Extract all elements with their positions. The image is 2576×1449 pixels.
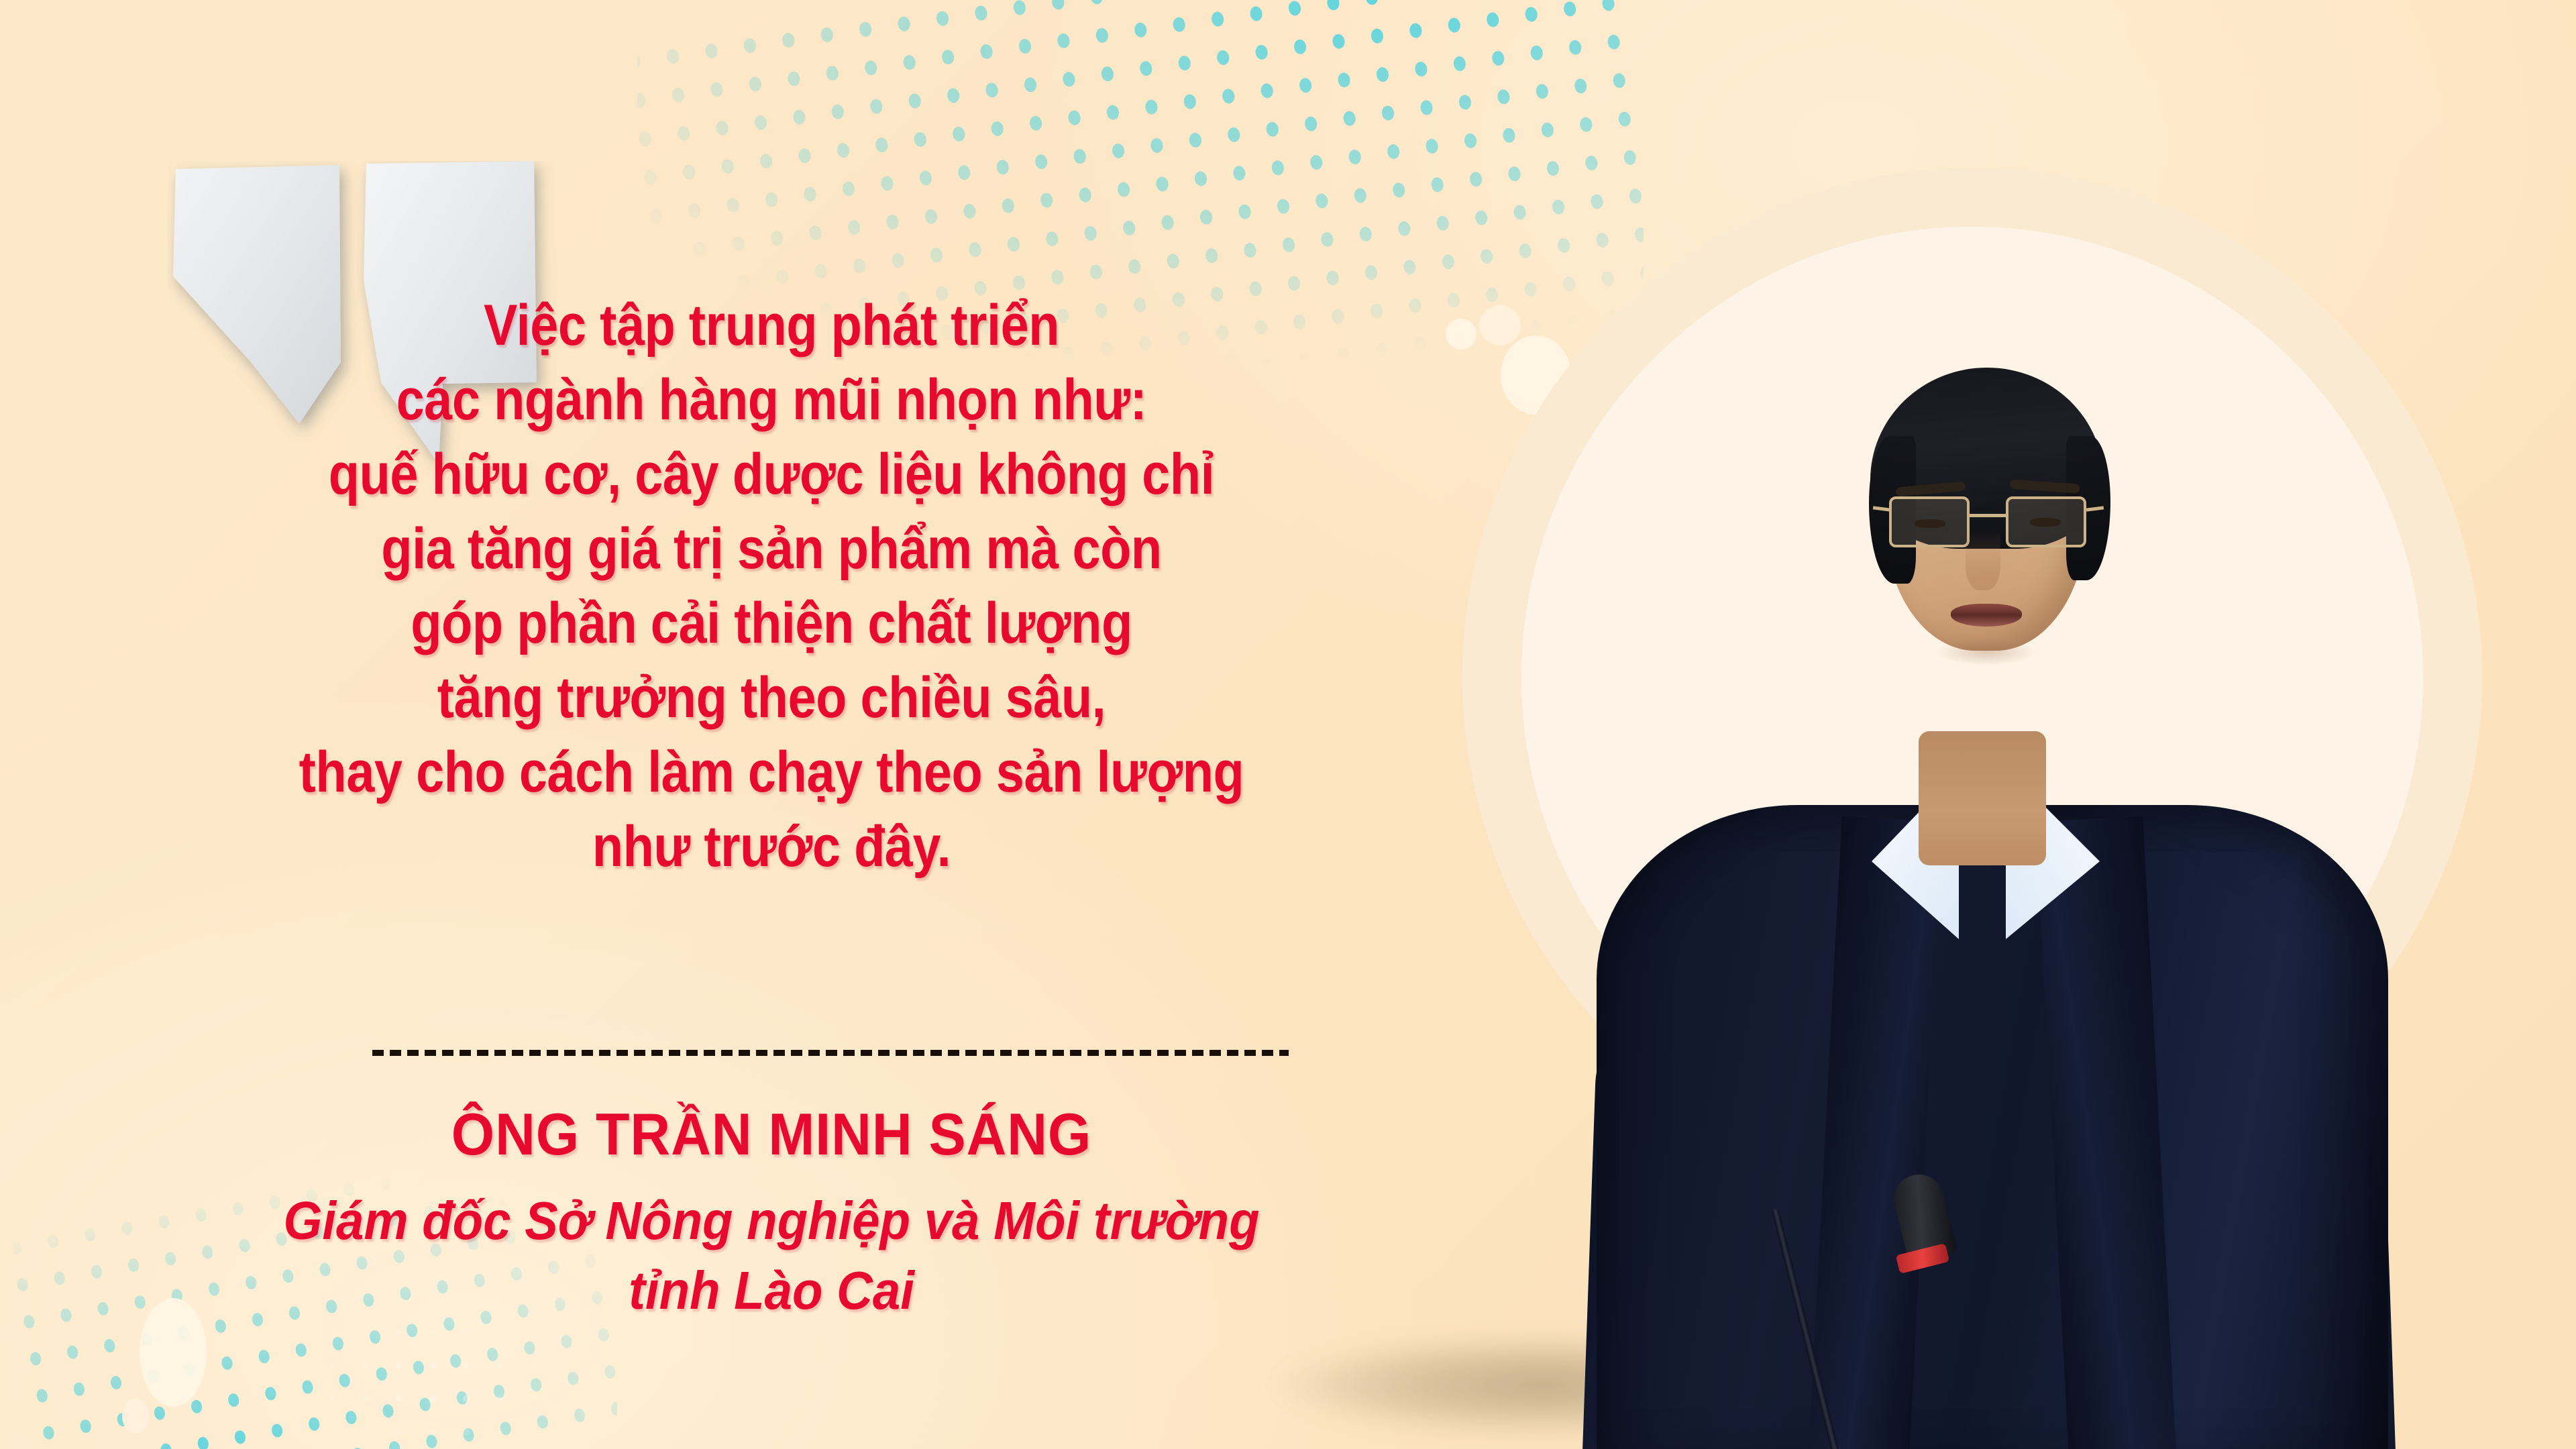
quote-line: Việc tập trung phát triển [270, 288, 1273, 363]
portrait-eye-left [1915, 519, 1945, 528]
quote-text-block: Việc tập trung phát triển các ngành hàng… [201, 288, 1342, 884]
quote-line: tăng trưởng theo chiều sâu, [270, 661, 1273, 735]
quote-line: gia tăng giá trị sản phẩm mà còn [270, 512, 1273, 586]
speaker-role-line: tỉnh Lào Cai [241, 1256, 1302, 1326]
speaker-role: Giám đốc Sở Nông nghiệp và Môi trường tỉ… [201, 1186, 1342, 1326]
speaker-role-line: Giám đốc Sở Nông nghiệp và Môi trường [241, 1186, 1302, 1256]
quote-line: góp phần cải thiện chất lượng [270, 586, 1273, 661]
portrait-nose [1966, 530, 2000, 590]
portrait-eye-right [2030, 518, 2061, 527]
quote-line: quế hữu cơ, cây dược liệu không chỉ [270, 437, 1273, 512]
bubble-medium-top [1446, 319, 1477, 350]
portrait-jacket [1597, 805, 2388, 1449]
bubble-small-top [1479, 305, 1521, 345]
quote-line: như trước đây. [270, 810, 1273, 884]
attribution-block: ÔNG TRẦN MINH SÁNG Giám đốc Sở Nông nghi… [201, 1100, 1342, 1326]
portrait-photo [1536, 215, 2408, 1449]
quote-line: thay cho cách làm chạy theo sản lượng [270, 735, 1273, 810]
portrait-mouth [1951, 604, 2022, 627]
dashed-divider [372, 1050, 1289, 1056]
portrait-chin-shadow [1936, 639, 2037, 665]
quote-line: các ngành hàng mũi nhọn như: [270, 363, 1273, 437]
portrait-neck [1919, 731, 2046, 865]
glasses-bridge [1970, 514, 2007, 517]
quote-card-poster: Việc tập trung phát triển các ngành hàng… [0, 0, 2576, 1449]
speaker-name: ÔNG TRẦN MINH SÁNG [235, 1100, 1307, 1169]
halftone-dots-accent [315, 1315, 543, 1449]
bubble-small-bottom [122, 1399, 149, 1434]
bubble-large-bottom [140, 1298, 207, 1407]
